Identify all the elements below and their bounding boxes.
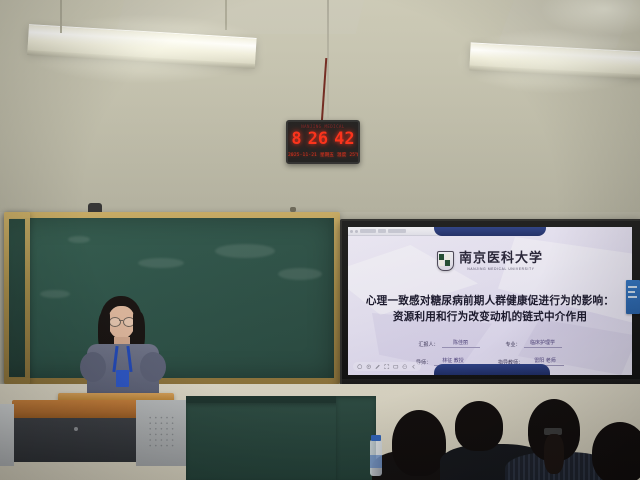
green-desk-panel [186,403,340,480]
meta-label: 专业： [506,341,521,348]
presenter-glasses-bridge [119,320,123,321]
slide-title: 心理一致感对糖尿病前期人群健康促进行为的影响： 资源利用和行为改变动机的链式中介… [348,293,632,326]
chalk-smudge [278,268,322,280]
audience-member-2-head [455,401,503,451]
smart-display[interactable]: 南京医科大学 NANJING MEDICAL UNIVERSITY 心理一致感对… [340,219,640,393]
window-chip [360,229,376,233]
meta-value: 临床护理学 [524,339,562,348]
slide-title-line-1: 心理一致感对糖尿病前期人群健康促进行为的影响： [348,293,632,309]
meta-value: 陈佳丽 [442,339,480,348]
window-dot-icon [355,230,358,233]
board-mount [290,207,296,212]
presenter-sleeve [80,352,106,382]
audience-member-4-head [592,422,640,480]
presenter [70,296,176,400]
chalkboard-left-panel [9,219,25,377]
settings-icon[interactable] [366,364,372,370]
presenter-badge [116,370,129,387]
window-chip [378,229,386,233]
slide-top-accent-bar [434,227,546,236]
clock-seconds: 42 [334,129,354,149]
university-name-en: NANJING MEDICAL UNIVERSITY [467,267,534,271]
clock-time: 8 26 42 [288,129,358,149]
university-shield-icon [437,251,454,271]
slide-bottom-accent-bar [434,364,550,375]
meta-label: 汇报人： [418,341,438,348]
podium-left-edge [0,404,14,466]
display-icon[interactable] [393,364,399,370]
presenter-glasses [109,317,121,327]
light-fixture-left-stems [0,0,260,40]
window-chip [388,229,406,233]
record-icon[interactable] [357,364,363,370]
ceiling-panel-right [496,0,633,48]
fixture-stem [60,0,62,33]
shield-quadrant [445,260,450,266]
slide-title-line-2: 资源利用和行为改变动机的链式中介作用 [348,309,632,325]
wall-sign-line [628,286,637,288]
display-screen[interactable]: 南京医科大学 NANJING MEDICAL UNIVERSITY 心理一致感对… [348,227,632,375]
chalk-smudge [40,290,70,298]
board-mount [88,203,102,212]
university-name-cn: 南京医科大学 [459,252,543,265]
water-bottle-label [370,455,382,468]
podium-lock [74,427,78,431]
window-dot-icon [350,230,353,233]
shield-quadrant [439,260,444,266]
presenter-sleeve [140,352,166,382]
chalk-smudge [138,258,184,268]
digital-clock: NANJING MEDICAL 8 26 42 2025-11-21 星期五 温… [286,120,360,164]
meta-major: 专业： 临床护理学 [506,339,562,348]
chalk-smudge [215,244,275,258]
meta-row: 汇报人： 陈佳丽 专业： 临床护理学 [348,339,632,348]
chalk-smudge [68,236,90,243]
wall-sign-line [628,291,635,293]
wall-seam [327,0,329,118]
clock-minutes: 26 [308,129,328,149]
zoom-icon[interactable] [384,364,390,370]
presentation-slide: 南京医科大学 NANJING MEDICAL UNIVERSITY 心理一致感对… [348,227,632,375]
speaker-grille-icon [147,412,179,452]
university-logo: 南京医科大学 NANJING MEDICAL UNIVERSITY [348,251,632,271]
water-bottle-cap [371,435,381,441]
chevron-left-icon[interactable] [411,364,417,370]
fixture-stem [225,0,227,30]
audience-member-3-ponytail [544,434,564,474]
pen-icon[interactable] [375,364,381,370]
wall-sign [626,280,640,314]
clock-date: 2025-11-21 星期五 温度 25℃ 湿度 48% [288,152,358,159]
wall-sign-line [628,296,637,298]
presentation-toolbar[interactable] [353,362,421,372]
podium-wood-front [12,400,137,420]
meta-presenter: 汇报人： 陈佳丽 [418,339,479,348]
clock-hours: 8 [291,129,301,149]
classroom-scene: NANJING MEDICAL 8 26 42 2025-11-21 星期五 温… [0,0,640,480]
more-icon[interactable] [402,364,408,370]
podium-body [12,418,137,462]
audience-member-1-head [392,410,446,476]
